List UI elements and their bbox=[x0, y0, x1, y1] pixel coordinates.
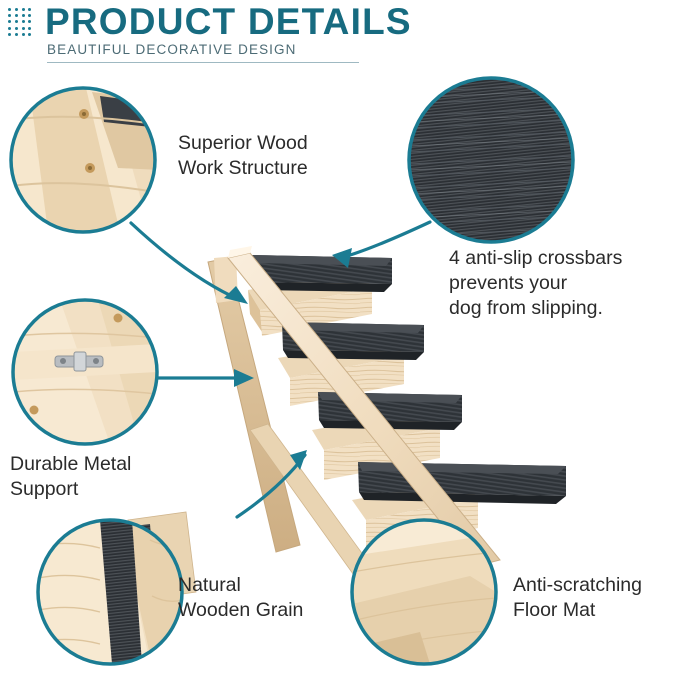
annotation-wooden-grain: Natural Wooden Grain bbox=[178, 573, 303, 623]
product-details-page: PRODUCT DETAILS BEAUTIFUL DECORATIVE DES… bbox=[0, 0, 679, 687]
annotation-floor-mat: Anti-scratching Floor Mat bbox=[513, 573, 642, 623]
annotation-floor-mat-line1: Anti-scratching bbox=[513, 573, 642, 598]
annotation-anti-slip-line1: 4 anti-slip crossbars bbox=[449, 246, 622, 271]
annotation-anti-slip-line2: prevents your bbox=[449, 271, 622, 296]
annotation-superior-wood-line1: Superior Wood bbox=[178, 131, 308, 156]
callout-carpet-texture bbox=[409, 78, 573, 242]
annotation-wooden-grain-line2: Wooden Grain bbox=[178, 598, 303, 623]
annotation-metal-support-line1: Durable Metal bbox=[10, 452, 131, 477]
callout-metal-brace bbox=[13, 300, 157, 444]
callout-wood-grain bbox=[38, 520, 182, 664]
callout-wood-joint bbox=[11, 88, 160, 232]
annotation-superior-wood: Superior Wood Work Structure bbox=[178, 131, 308, 181]
annotation-metal-support-line2: Support bbox=[10, 477, 131, 502]
callout-floor-mat bbox=[352, 520, 496, 664]
annotation-anti-slip: 4 anti-slip crossbars prevents your dog … bbox=[449, 246, 622, 321]
annotation-floor-mat-line2: Floor Mat bbox=[513, 598, 642, 623]
annotation-anti-slip-line3: dog from slipping. bbox=[449, 296, 622, 321]
annotation-superior-wood-line2: Work Structure bbox=[178, 156, 308, 181]
annotation-metal-support: Durable Metal Support bbox=[10, 452, 131, 502]
annotation-wooden-grain-line1: Natural bbox=[178, 573, 303, 598]
